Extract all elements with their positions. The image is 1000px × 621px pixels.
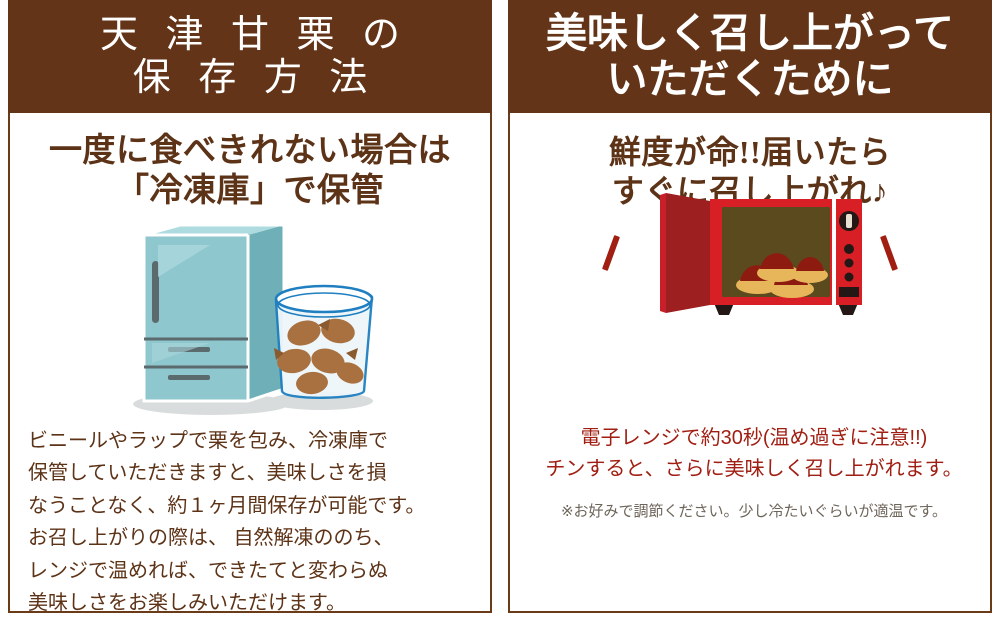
panel-storage-method: 天 津 甘 栗 の 保 存 方 法 一度に食べきれない場合は 「冷凍庫」で保管 — [8, 0, 492, 613]
panel-storage-body: 一度に食べきれない場合は 「冷凍庫」で保管 — [10, 113, 490, 611]
panel-storage-header: 天 津 甘 栗 の 保 存 方 法 — [8, 0, 492, 113]
storage-subheading-line1: 一度に食べきれない場合は — [10, 131, 490, 171]
microwave-button-3 — [845, 273, 854, 282]
panel-serving-title: 美味しく召し上がって いただくために — [546, 11, 954, 103]
serving-description-line-1: 電子レンジで約30秒(温め過ぎに注意!!) — [528, 423, 980, 454]
serving-note: ※お好みで調節ください。少し冷たいぐらいが適温です。 — [528, 501, 980, 524]
storage-description-line-1: ビニールやラップで栗を包み、冷凍庫で — [28, 425, 476, 457]
panel-storage-title: 天 津 甘 栗 の 保 存 方 法 — [91, 14, 409, 99]
storage-description-line-6: 美味しさをお楽しみいただけます。 — [28, 587, 476, 619]
microwave-door-edge — [660, 193, 666, 313]
storage-description-line-2: 保管していただきますと、美味しさを損 — [28, 457, 476, 489]
microwave-panel-divider — [832, 199, 836, 305]
serving-subheading-line1: 鮮度が命!!届いたら — [510, 133, 990, 172]
microwave-display — [839, 287, 859, 297]
storage-subheading-line2: 「冷凍庫」で保管 — [10, 171, 490, 211]
microwave-button-2 — [845, 259, 854, 268]
serving-description: 電子レンジで約30秒(温め過ぎに注意!!) チンすると、さらに美味しく召し上がれ… — [528, 423, 980, 485]
panel-serving-header: 美味しく召し上がって いただくために — [508, 0, 992, 113]
microwave-dial-marker — [846, 214, 852, 228]
panel-serving-body: 鮮度が命!!届いたら すぐに召し上がれ♪ 食べる分だけ レンチン約30秒!! — [510, 113, 990, 611]
panel-serving-guide: 美味しく召し上がって いただくために 鮮度が命!!届いたら すぐに召し上がれ♪ … — [508, 0, 992, 613]
fridge-door-handle — [152, 261, 159, 323]
storage-subheading: 一度に食べきれない場合は 「冷凍庫」で保管 — [10, 113, 490, 212]
storage-description-line-3: なうことなく、約１ヶ月間保存が可能です。 — [28, 490, 476, 522]
serving-description-line-2: チンすると、さらに美味しく召し上がれます。 — [528, 454, 980, 485]
microwave-illustration — [610, 191, 900, 326]
infographic-stage: 天 津 甘 栗 の 保 存 方 法 一度に食べきれない場合は 「冷凍庫」で保管 — [0, 0, 1000, 621]
refrigerator-illustration — [106, 221, 396, 426]
panel-serving-title-line2: いただくために — [546, 57, 954, 103]
serving-note-line-1: ※お好みで調節ください。少し冷たいぐらいが適温です。 — [528, 501, 980, 524]
microwave-button-1 — [844, 244, 854, 254]
storage-description-line-4: お召し上がりの際は、 自然解凍ののち、 — [28, 522, 476, 554]
bag-seal-top — [276, 286, 372, 312]
fridge-drawer-handle-2 — [168, 375, 210, 380]
storage-description: ビニールやラップで栗を包み、冷凍庫で 保管していただきますと、美味しさを損 なう… — [28, 425, 476, 619]
chestnut-bag — [274, 286, 372, 398]
panel-storage-title-line2: 保 存 方 法 — [91, 57, 409, 100]
microwave-door-inner — [666, 193, 710, 313]
storage-description-line-5: レンジで温めれば、できたてと変わらぬ — [28, 555, 476, 587]
panel-serving-title-line1: 美味しく召し上がって — [546, 10, 954, 56]
panel-storage-title-line1: 天 津 甘 栗 の — [100, 14, 409, 56]
